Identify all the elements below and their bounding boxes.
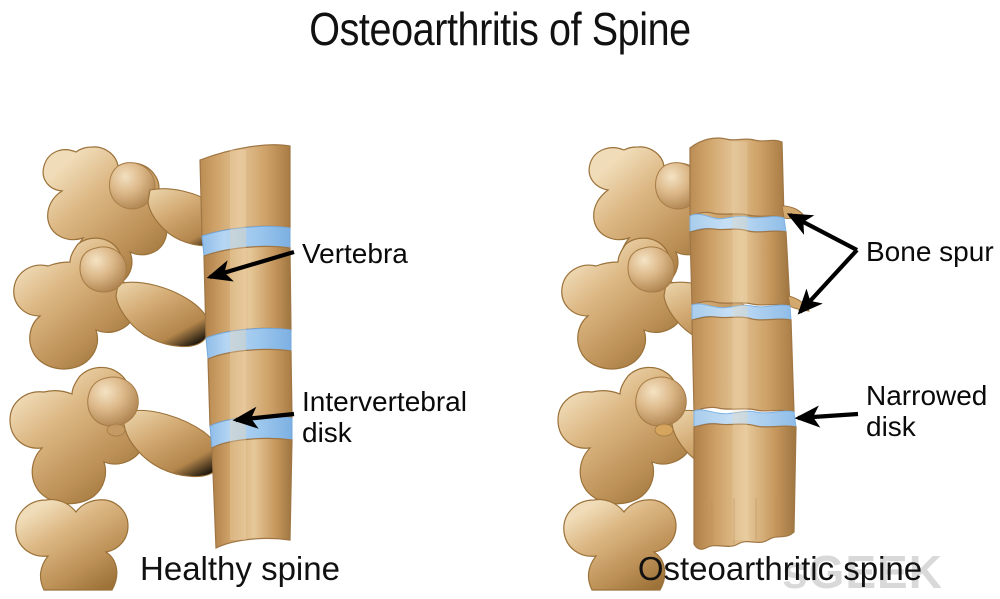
text-layer: Osteoarthritis of Spine Vertebra Interve… [0, 0, 1000, 598]
label-narrowed-disk: Narrowed disk [866, 380, 987, 443]
label-intervertebral-disk: Intervertebral disk [302, 386, 467, 449]
page-title: Osteoarthritis of Spine [70, 2, 930, 56]
label-bone-spur: Bone spur [866, 236, 994, 267]
illustration-canvas: sGEEK Osteoarthritis of Spine Vertebra I… [0, 0, 1000, 598]
caption-healthy-spine: Healthy spine [0, 550, 480, 588]
label-vertebra: Vertebra [302, 238, 408, 269]
caption-osteoarthritic-spine: Osteoarthritic spine [560, 550, 1000, 588]
